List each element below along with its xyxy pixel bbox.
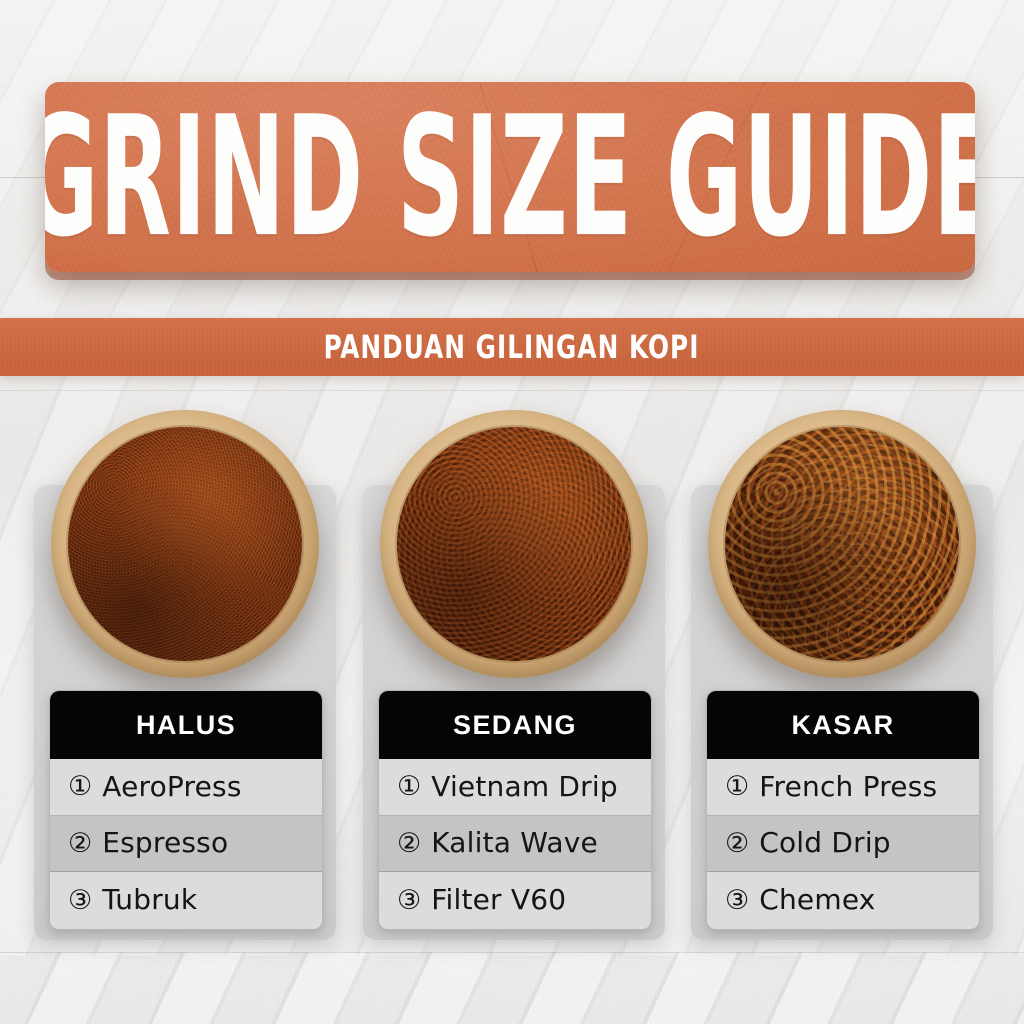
- coffee-grounds-coarse: [725, 427, 959, 661]
- bowl-rim: [397, 427, 631, 661]
- list-item[interactable]: ② Espresso: [50, 816, 322, 873]
- list-item[interactable]: ② Kalita Wave: [379, 816, 651, 873]
- list-item-label: Espresso: [102, 829, 228, 857]
- page-subtitle: PANDUAN GILINGAN KOPI: [324, 328, 700, 366]
- list-header-kasar: KASAR: [707, 691, 979, 759]
- brew-method-list: HALUS ① AeroPress ② Espresso ③ Tubruk: [49, 690, 323, 930]
- list-item-label: Vietnam Drip: [431, 773, 618, 801]
- coffee-grounds-fine: [68, 427, 302, 661]
- coffee-bowl-icon: [708, 410, 976, 678]
- list-item[interactable]: ② Cold Drip: [707, 816, 979, 873]
- list-item-number: ③: [397, 887, 421, 914]
- grounds-shading: [397, 427, 631, 661]
- list-header-label: SEDANG: [453, 710, 577, 741]
- list-item-number: ②: [725, 830, 749, 857]
- list-item-label: Chemex: [759, 886, 875, 914]
- list-item[interactable]: ① AeroPress: [50, 759, 322, 816]
- coffee-bowl-icon: [51, 410, 319, 678]
- list-item-label: Kalita Wave: [431, 829, 598, 857]
- page-title: GRIND SIZE GUIDE: [45, 94, 975, 260]
- list-header-sedang: SEDANG: [379, 691, 651, 759]
- list-item[interactable]: ③ Filter V60: [379, 872, 651, 929]
- list-header-label: KASAR: [791, 710, 894, 741]
- brew-method-list: SEDANG ① Vietnam Drip ② Kalita Wave ③ Fi…: [378, 690, 652, 930]
- grind-size-guide-poster: GRIND SIZE GUIDE PANDUAN GILINGAN KOPI H…: [0, 0, 1024, 1024]
- grounds-shading: [725, 427, 959, 661]
- list-item-label: French Press: [759, 773, 937, 801]
- list-item-label: AeroPress: [102, 773, 241, 801]
- grind-column-kasar: KASAR ① French Press ② Cold Drip ③ Cheme…: [691, 485, 993, 940]
- list-item[interactable]: ① Vietnam Drip: [379, 759, 651, 816]
- title-banner: GRIND SIZE GUIDE: [45, 82, 975, 272]
- list-item[interactable]: ③ Tubruk: [50, 872, 322, 929]
- list-item-label: Cold Drip: [759, 829, 891, 857]
- list-item-number: ③: [68, 887, 92, 914]
- list-item-number: ②: [68, 830, 92, 857]
- list-item-number: ①: [68, 773, 92, 800]
- coffee-bowl-icon: [380, 410, 648, 678]
- list-header-label: HALUS: [136, 710, 236, 741]
- list-header-halus: HALUS: [50, 691, 322, 759]
- bowl-rim: [725, 427, 959, 661]
- bowl-rim: [68, 427, 302, 661]
- list-item-number: ③: [725, 887, 749, 914]
- grind-column-halus: HALUS ① AeroPress ② Espresso ③ Tubruk: [34, 485, 336, 940]
- list-item[interactable]: ① French Press: [707, 759, 979, 816]
- grind-column-sedang: SEDANG ① Vietnam Drip ② Kalita Wave ③ Fi…: [363, 485, 665, 940]
- coffee-grounds-medium: [397, 427, 631, 661]
- list-item[interactable]: ③ Chemex: [707, 872, 979, 929]
- list-item-label: Tubruk: [102, 886, 197, 914]
- list-item-number: ①: [397, 773, 421, 800]
- list-item-number: ②: [397, 830, 421, 857]
- list-item-label: Filter V60: [431, 886, 566, 914]
- grounds-shading: [68, 427, 302, 661]
- list-item-number: ①: [725, 773, 749, 800]
- brew-method-list: KASAR ① French Press ② Cold Drip ③ Cheme…: [706, 690, 980, 930]
